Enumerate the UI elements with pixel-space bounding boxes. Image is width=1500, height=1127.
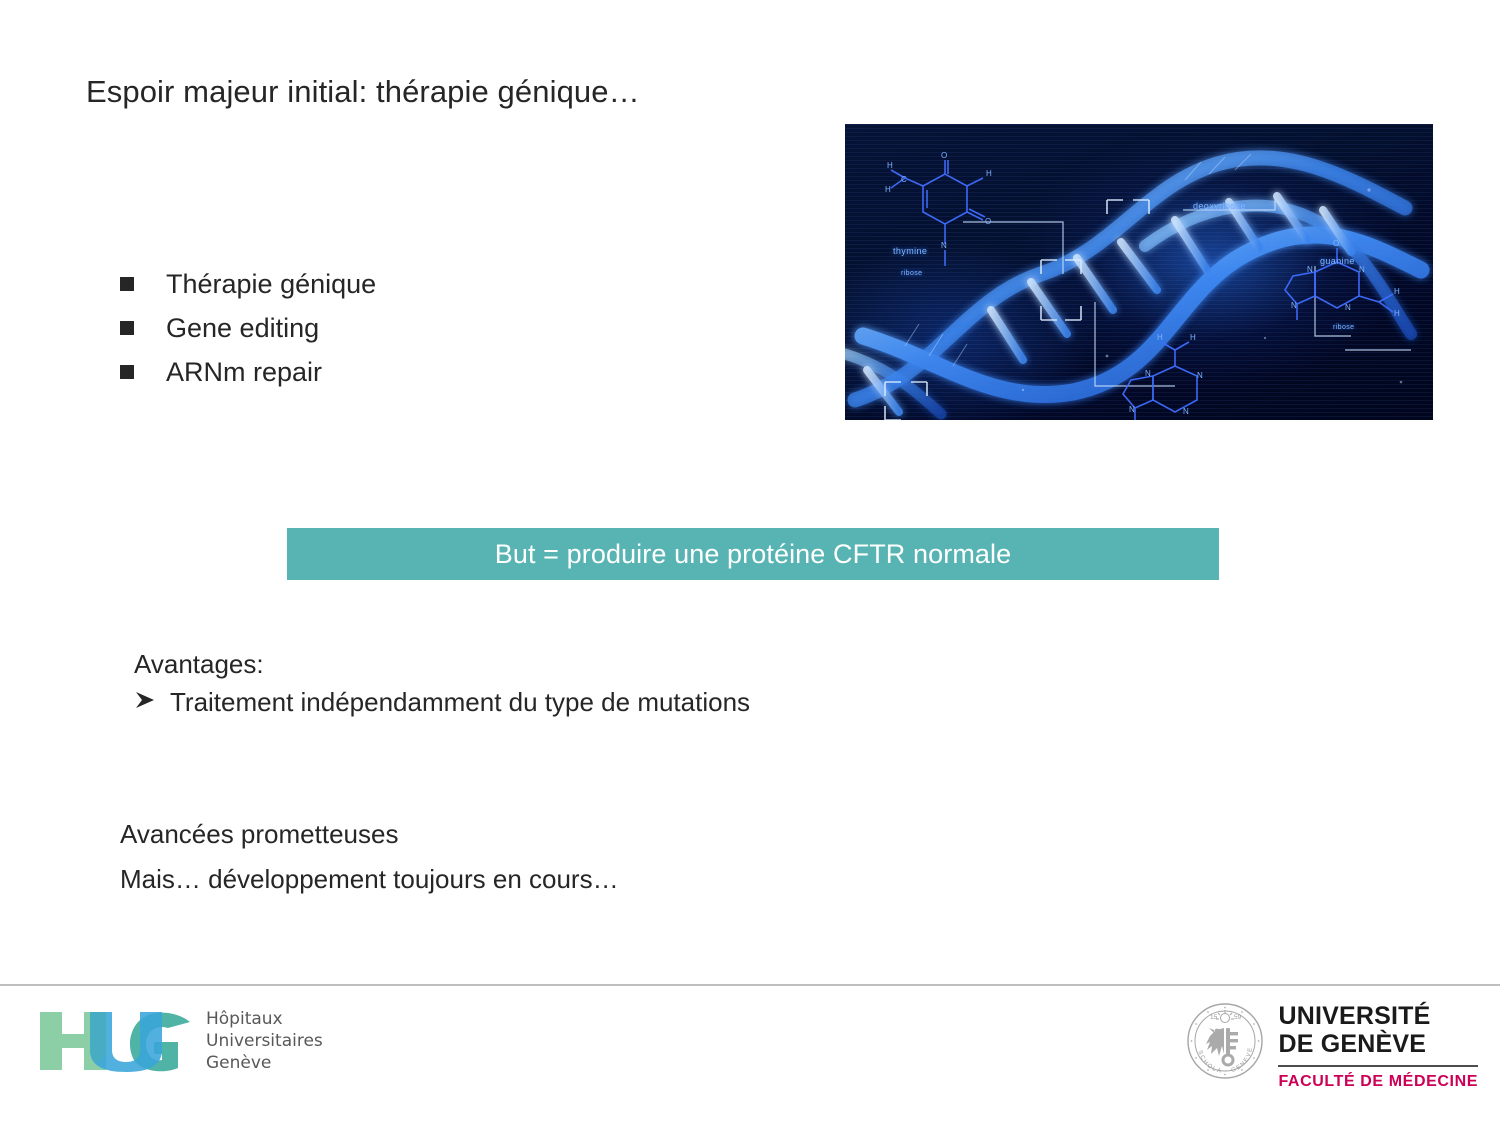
svg-text:O: O (941, 151, 947, 160)
hug-monogram-icon (38, 1010, 190, 1072)
unige-name-line-2: DE GENÈVE (1278, 1030, 1478, 1058)
svg-text:N: N (1197, 371, 1203, 380)
unige-text-block: UNIVERSITÉ DE GENÈVE FACULTÉ DE MÉDECINE (1278, 998, 1478, 1091)
dna-label-ribose-left: ribose (901, 270, 922, 277)
closing-line: Avancées prometteuses (120, 812, 1020, 857)
list-item-label: Thérapie génique (166, 266, 376, 302)
advantages-block: Avantages: Traitement indépendamment du … (134, 645, 1054, 721)
list-item: Thérapie génique (120, 266, 640, 302)
list-item: ARNm repair (120, 354, 640, 390)
svg-text:C: C (901, 175, 907, 184)
dna-helix-graphic: O O H N H H C O N N N N H H (845, 124, 1433, 420)
hug-name-line: Hôpitaux (206, 1008, 323, 1030)
hug-name-line: Genève (206, 1052, 323, 1074)
svg-text:H: H (885, 185, 891, 194)
svg-text:O: O (1333, 239, 1339, 248)
arrowhead-bullet-icon (134, 689, 156, 715)
closing-block: Avancées prometteuses Mais… développemen… (120, 812, 1020, 902)
goal-banner: But = produire une protéine CFTR normale (287, 528, 1219, 580)
svg-text:H: H (887, 161, 893, 170)
svg-text:N: N (1345, 303, 1351, 312)
unige-logo: 15 59 SCHOLA (1186, 998, 1478, 1091)
hug-name-line: Universitaires (206, 1030, 323, 1052)
hug-name-block: Hôpitaux Universitaires Genève (206, 1008, 323, 1074)
svg-text:H: H (1394, 309, 1400, 318)
therapy-bullet-list: Thérapie génique Gene editing ARNm repai… (120, 266, 640, 398)
svg-text:H: H (1190, 333, 1196, 342)
advantages-heading: Avantages: (134, 645, 1054, 683)
svg-text:N: N (1291, 301, 1297, 310)
list-item: Gene editing (120, 310, 640, 346)
unige-divider (1278, 1065, 1478, 1067)
svg-text:H: H (1157, 333, 1163, 342)
page-title: Espoir majeur initial: thérapie génique… (86, 74, 640, 110)
hug-logo: Hôpitaux Universitaires Genève (38, 1008, 323, 1074)
svg-text:N: N (1307, 265, 1313, 274)
list-item: Traitement indépendamment du type de mut… (134, 683, 1054, 721)
list-item-label: Gene editing (166, 310, 319, 346)
dna-label-deoxyribose: deoxyribose (1193, 201, 1246, 211)
square-bullet-icon (120, 365, 134, 379)
slide-footer: Hôpitaux Universitaires Genève (0, 984, 1500, 1127)
unige-faculty-label: FACULTÉ DE MÉDECINE (1278, 1073, 1478, 1091)
svg-text:15: 15 (1210, 1014, 1218, 1021)
dna-double-helix-image: O O H N H H C O N N N N H H (845, 124, 1433, 420)
square-bullet-icon (120, 277, 134, 291)
square-bullet-icon (120, 321, 134, 335)
unige-name-line-1: UNIVERSITÉ (1278, 1002, 1478, 1030)
dna-label-ribose-right: ribose (1333, 324, 1354, 331)
unige-seal-icon: 15 59 SCHOLA (1186, 1002, 1264, 1080)
svg-text:N: N (941, 241, 947, 250)
svg-text:N: N (1183, 407, 1189, 416)
dna-label-thymine: thymine (893, 246, 927, 256)
svg-text:H: H (986, 169, 992, 178)
goal-banner-text: But = produire une protéine CFTR normale (495, 539, 1012, 570)
svg-text:N: N (1129, 405, 1135, 414)
list-item-label: ARNm repair (166, 354, 322, 390)
svg-text:O: O (985, 217, 991, 226)
svg-text:N: N (1359, 265, 1365, 274)
svg-text:59: 59 (1234, 1014, 1242, 1021)
svg-text:N: N (1145, 369, 1151, 378)
closing-line: Mais… développement toujours en cours… (120, 857, 1020, 902)
list-item-label: Traitement indépendamment du type de mut… (170, 683, 750, 721)
svg-text:H: H (1394, 287, 1400, 296)
dna-label-guanine: guanine (1320, 256, 1355, 266)
